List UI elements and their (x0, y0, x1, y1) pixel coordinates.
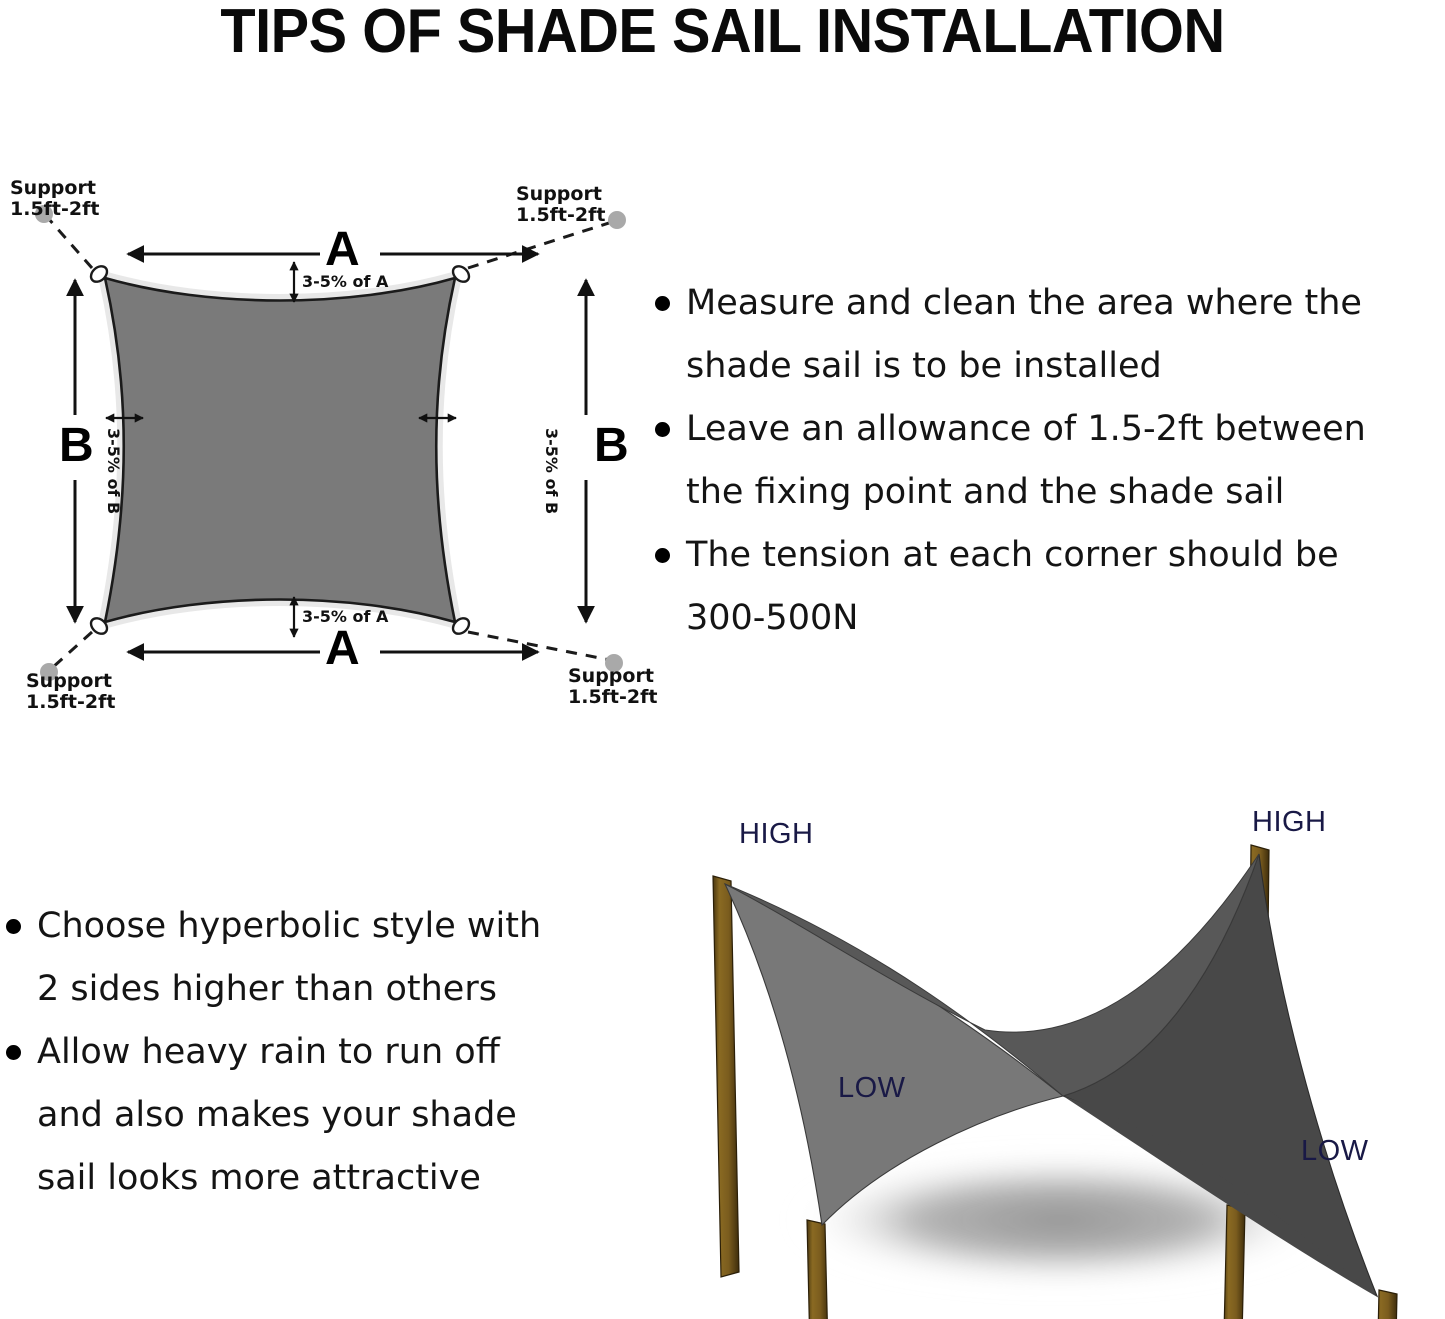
label-low-right: LOW (1301, 1135, 1369, 1168)
list-item-continuation: the fixing point and the shade sail (655, 461, 1445, 524)
list-item: The tension at each corner should be (655, 524, 1445, 587)
label-high-right: HIGH (1252, 806, 1327, 839)
post-low-far-right (1375, 1290, 1397, 1319)
tip-text: 300-500N (686, 587, 858, 650)
tip-text: sail looks more attractive (37, 1147, 481, 1210)
rectangular-sail-diagram: Support 1.5ft-2ft Support 1.5ft-2ft Supp… (0, 160, 660, 730)
list-item-continuation: shade sail is to be installed (655, 335, 1445, 398)
pct-label-b-left: 3-5% of B (104, 428, 122, 514)
bullet-dot-icon (655, 296, 670, 311)
tip-text: 2 sides higher than others (37, 958, 497, 1021)
support-label-top-left-line1: Support (10, 178, 99, 199)
bullet-spacer (655, 359, 670, 374)
dimension-letter-b-left: B (59, 422, 94, 470)
support-label-bottom-right-line2: 1.5ft-2ft (568, 687, 657, 708)
tie-line-top-right (468, 222, 612, 268)
dimension-letter-a-top: A (325, 226, 360, 274)
tip-text: and also makes your shade (37, 1084, 517, 1147)
post-high-left (713, 876, 739, 1277)
tip-text: Leave an allowance of 1.5-2ft between (686, 398, 1366, 461)
support-label-bottom-left-line1: Support (26, 671, 115, 692)
list-item: Allow heavy rain to run off (0, 1021, 640, 1084)
post-low-left (807, 1220, 829, 1319)
hyperbolic-sail-illustration: HIGH HIGH LOW LOW (655, 780, 1445, 1319)
label-low-left: LOW (838, 1072, 906, 1105)
support-label-top-right-line1: Support (516, 184, 605, 205)
page-title: TIPS OF SHADE SAIL INSTALLATION (51, 0, 1395, 67)
pct-label-a-top: 3-5% of A (302, 273, 388, 291)
pct-label-b-right: 3-5% of B (542, 428, 560, 514)
support-dot-top-right (608, 211, 626, 229)
bullet-dot-icon (655, 548, 670, 563)
bullet-spacer (6, 1171, 21, 1186)
tip-text: the fixing point and the shade sail (686, 461, 1284, 524)
label-high-left: HIGH (739, 818, 814, 851)
list-item: Measure and clean the area where the (655, 272, 1445, 335)
support-label-top-right-line2: 1.5ft-2ft (516, 205, 605, 226)
tip-text: Choose hyperbolic style with (37, 895, 541, 958)
support-label-top-left: Support 1.5ft-2ft (10, 178, 99, 221)
tie-line-bottom-right (468, 632, 610, 660)
list-item-continuation: 300-500N (655, 587, 1445, 650)
tip-text: shade sail is to be installed (686, 335, 1162, 398)
support-label-bottom-left-line2: 1.5ft-2ft (26, 692, 115, 713)
list-item: Choose hyperbolic style with (0, 895, 640, 958)
bullet-spacer (6, 982, 21, 997)
tip-text: Allow heavy rain to run off (37, 1021, 500, 1084)
bullet-dot-icon (6, 919, 21, 934)
support-label-bottom-right-line1: Support (568, 666, 657, 687)
shade-sail-body (105, 278, 455, 622)
dimension-letter-b-right: B (594, 422, 629, 470)
support-label-top-right: Support 1.5ft-2ft (516, 184, 605, 227)
support-label-top-left-line2: 1.5ft-2ft (10, 199, 99, 220)
bullet-spacer (6, 1108, 21, 1123)
tip-text: The tension at each corner should be (686, 524, 1339, 587)
tie-line-top-left (48, 218, 92, 268)
bullet-spacer (655, 485, 670, 500)
list-item: Leave an allowance of 1.5-2ft between (655, 398, 1445, 461)
pct-label-a-bottom: 3-5% of A (302, 608, 388, 626)
tie-line-bottom-left (52, 632, 92, 668)
list-item-continuation: 2 sides higher than others (0, 958, 640, 1021)
dimension-letter-a-bottom: A (325, 625, 360, 673)
support-label-bottom-right: Support 1.5ft-2ft (568, 666, 657, 709)
hypar-svg (655, 780, 1445, 1319)
support-label-bottom-left: Support 1.5ft-2ft (26, 671, 115, 714)
post-low-right (1223, 1205, 1245, 1319)
tips-list-right: Measure and clean the area where the sha… (655, 272, 1445, 650)
bullet-spacer (655, 611, 670, 626)
list-item-continuation: sail looks more attractive (0, 1147, 640, 1210)
tips-list-left: Choose hyperbolic style with 2 sides hig… (0, 895, 640, 1210)
list-item-continuation: and also makes your shade (0, 1084, 640, 1147)
bullet-dot-icon (6, 1045, 21, 1060)
bullet-dot-icon (655, 422, 670, 437)
tip-text: Measure and clean the area where the (686, 272, 1362, 335)
